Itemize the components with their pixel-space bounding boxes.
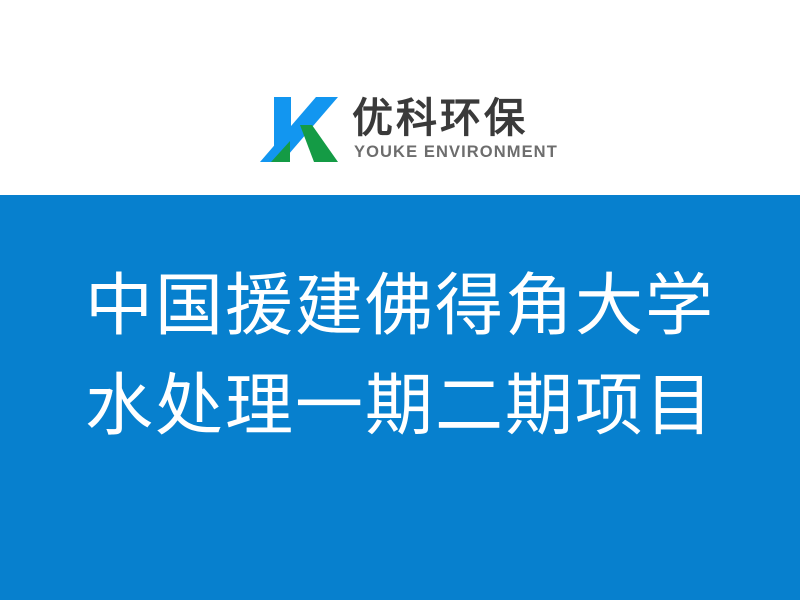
header-band: 优科环保 YOUKE ENVIRONMENT bbox=[0, 0, 800, 195]
logo-wordmark: 优科环保 YOUKE ENVIRONMENT bbox=[352, 94, 558, 162]
title-banner: 中国援建佛得角大学 水处理一期二期项目 bbox=[0, 195, 800, 600]
slide-title-line-2: 水处理一期二期项目 bbox=[0, 357, 800, 457]
slide-title: 中国援建佛得角大学 水处理一期二期项目 bbox=[0, 257, 800, 457]
presentation-slide: 优科环保 YOUKE ENVIRONMENT 中国援建佛得角大学 水处理一期二期… bbox=[0, 0, 800, 600]
slide-title-line-1: 中国援建佛得角大学 bbox=[0, 257, 800, 357]
logo-name-chinese: 优科环保 bbox=[352, 95, 558, 141]
company-logo: 优科环保 YOUKE ENVIRONMENT bbox=[260, 94, 560, 168]
logo-name-english: YOUKE ENVIRONMENT bbox=[354, 142, 558, 162]
youke-k-mark-icon bbox=[260, 94, 338, 164]
